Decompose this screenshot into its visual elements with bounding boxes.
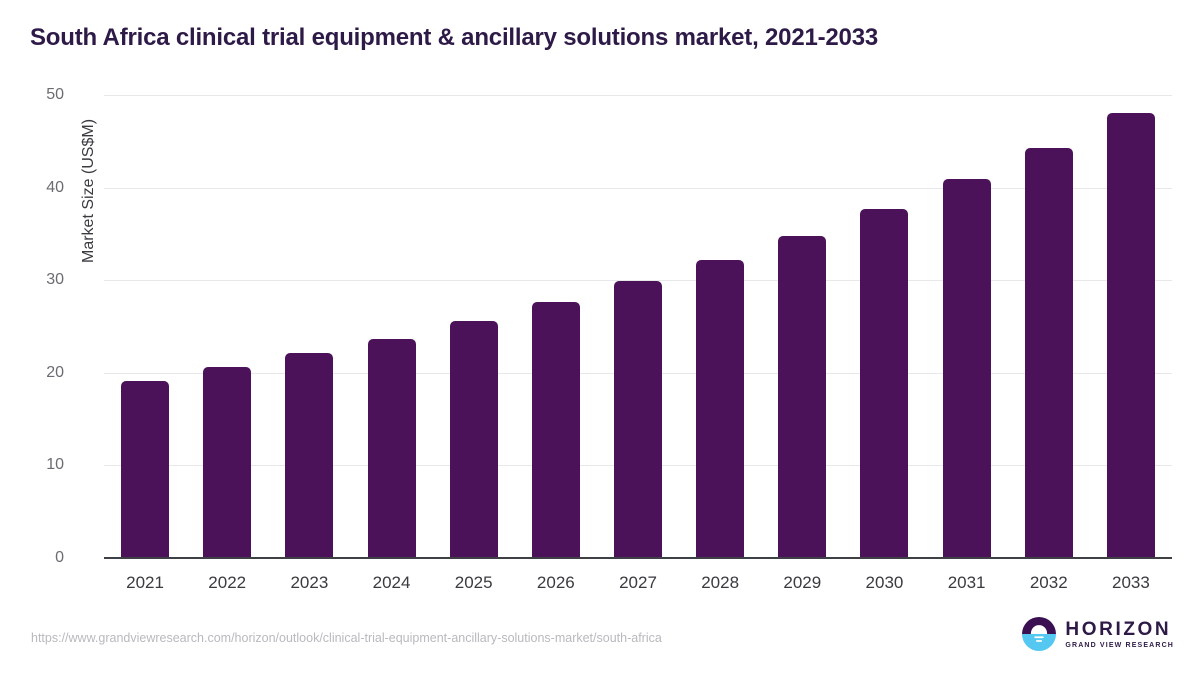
y-axis-tick-label: 30: [4, 271, 64, 289]
x-axis-tick-label: 2025: [434, 573, 514, 593]
bar-2031[interactable]: [943, 179, 991, 558]
logo-text-block: HORIZON GRAND VIEW RESEARCH: [1065, 620, 1174, 649]
gridline: [104, 95, 1172, 96]
x-axis-tick-label: 2031: [927, 573, 1007, 593]
bar-2021[interactable]: [121, 381, 169, 558]
y-axis-title: Market Size (US$M): [80, 119, 98, 263]
bar-2032[interactable]: [1025, 148, 1073, 558]
y-axis-tick-label: 50: [4, 86, 64, 104]
horizon-logo-icon: [1022, 617, 1056, 651]
logo-wordmark: HORIZON: [1065, 620, 1174, 639]
plot-area: Market Size (US$M) 01020304050 202120222…: [104, 95, 1172, 558]
bar-2023[interactable]: [285, 353, 333, 558]
x-axis-line: [104, 557, 1172, 559]
bar-2029[interactable]: [778, 236, 826, 558]
bar-2024[interactable]: [368, 339, 416, 558]
x-axis-tick-label: 2030: [844, 573, 924, 593]
y-axis-tick-label: 40: [4, 179, 64, 197]
y-axis-tick-label: 0: [4, 549, 64, 567]
bar-2026[interactable]: [532, 302, 580, 559]
source-url-text: https://www.grandviewresearch.com/horizo…: [31, 631, 662, 645]
x-axis-tick-label: 2026: [516, 573, 596, 593]
bar-2025[interactable]: [450, 321, 498, 558]
x-axis-tick-label: 2028: [680, 573, 760, 593]
bar-2033[interactable]: [1107, 113, 1155, 558]
bar-2030[interactable]: [860, 209, 908, 558]
bar-2028[interactable]: [696, 260, 744, 558]
logo-tagline: GRAND VIEW RESEARCH: [1065, 642, 1174, 649]
y-axis-tick-label: 10: [4, 456, 64, 474]
x-axis-tick-label: 2021: [105, 573, 185, 593]
horizon-logo: HORIZON GRAND VIEW RESEARCH: [1022, 617, 1174, 651]
bar-2027[interactable]: [614, 281, 662, 558]
x-axis-tick-label: 2024: [352, 573, 432, 593]
x-axis-tick-label: 2023: [269, 573, 349, 593]
x-axis-tick-label: 2027: [598, 573, 678, 593]
y-axis-tick-label: 20: [4, 364, 64, 382]
bar-2022[interactable]: [203, 367, 251, 558]
x-axis-tick-label: 2029: [762, 573, 842, 593]
chart-card: South Africa clinical trial equipment & …: [0, 0, 1200, 675]
x-axis-tick-label: 2022: [187, 573, 267, 593]
x-axis-tick-label: 2032: [1009, 573, 1089, 593]
x-axis-tick-label: 2033: [1091, 573, 1171, 593]
page-title: South Africa clinical trial equipment & …: [30, 24, 878, 52]
gridline: [104, 188, 1172, 189]
